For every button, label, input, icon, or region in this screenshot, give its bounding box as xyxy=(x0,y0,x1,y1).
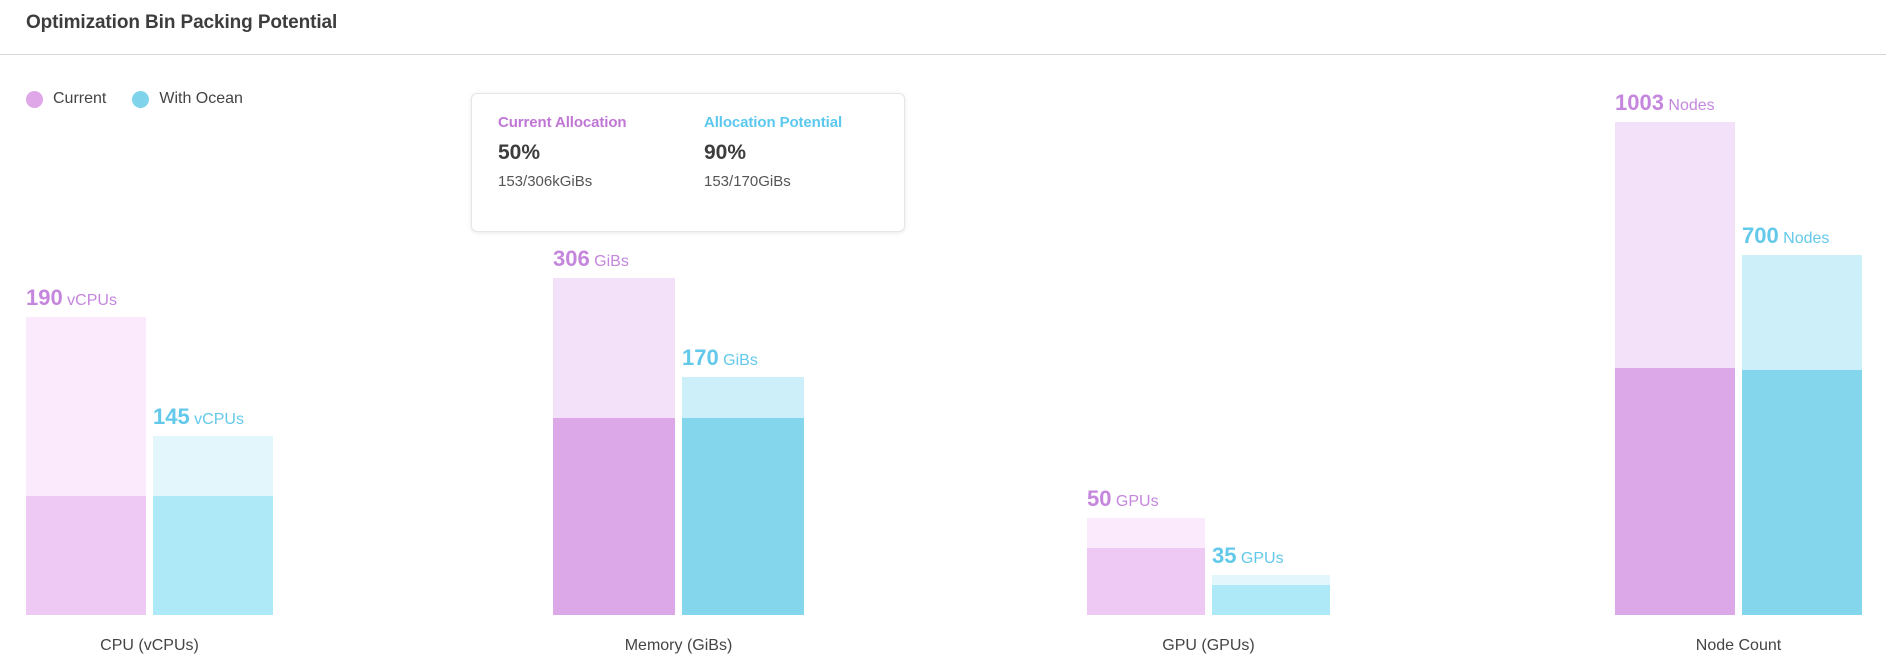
bar-current[interactable] xyxy=(553,278,675,615)
bar-value-unit: GiBs xyxy=(590,253,629,270)
bar-unused-segment xyxy=(26,317,146,496)
bar-chart-plot: 190 vCPUs145 vCPUsCPU (vCPUs)306 GiBs170… xyxy=(0,0,1886,666)
bar-value-unit: GPUs xyxy=(1236,550,1283,567)
bar-current[interactable] xyxy=(1087,518,1205,615)
bar-group: 190 vCPUs145 vCPUsCPU (vCPUs) xyxy=(26,51,273,615)
bar-with-ocean[interactable] xyxy=(1212,575,1330,615)
bar-unused-segment xyxy=(553,278,675,418)
bar-unused-segment xyxy=(1087,518,1205,548)
bar-unused-segment xyxy=(153,436,273,496)
bar-allocated-segment xyxy=(1212,585,1330,615)
bar-value-unit: vCPUs xyxy=(190,411,244,428)
bar-allocated-segment xyxy=(1615,368,1735,615)
bar-value-number: 306 xyxy=(553,246,590,271)
bar-allocated-segment xyxy=(26,496,146,615)
bar-value-unit: Nodes xyxy=(1779,230,1830,247)
bar-with-ocean[interactable] xyxy=(153,436,273,615)
bar-value-label: 145 vCPUs xyxy=(153,404,353,430)
bar-value-number: 1003 xyxy=(1615,90,1664,115)
bar-value-label: 35 GPUs xyxy=(1212,543,1412,569)
bar-unused-segment xyxy=(1742,255,1862,370)
x-axis-category-label: CPU (vCPUs) xyxy=(26,637,273,655)
bar-current[interactable] xyxy=(1615,122,1735,615)
bar-unused-segment xyxy=(1212,575,1330,585)
bar-value-label: 700 Nodes xyxy=(1742,223,1886,249)
bar-value-number: 50 xyxy=(1087,486,1111,511)
x-axis-category-label: GPU (GPUs) xyxy=(1087,637,1330,655)
bar-value-unit: GiBs xyxy=(719,352,758,369)
chart-page: Optimization Bin Packing Potential Curre… xyxy=(0,0,1886,666)
bar-unused-segment xyxy=(1615,122,1735,368)
bar-unused-segment xyxy=(682,377,804,418)
bar-with-ocean[interactable] xyxy=(1742,255,1862,615)
bar-value-number: 700 xyxy=(1742,223,1779,248)
bar-value-unit: vCPUs xyxy=(63,292,117,309)
bar-value-number: 35 xyxy=(1212,543,1236,568)
bar-value-unit: Nodes xyxy=(1664,97,1715,114)
bar-value-unit: GPUs xyxy=(1111,493,1158,510)
bar-value-number: 190 xyxy=(26,285,63,310)
bar-allocated-segment xyxy=(153,496,273,615)
bar-group: 306 GiBs170 GiBsMemory (GiBs) xyxy=(553,51,804,615)
bar-value-label: 306 GiBs xyxy=(553,246,753,272)
bar-value-label: 1003 Nodes xyxy=(1615,90,1815,116)
x-axis-category-label: Node Count xyxy=(1615,637,1862,655)
bar-value-number: 145 xyxy=(153,404,190,429)
x-axis-category-label: Memory (GiBs) xyxy=(553,637,804,655)
bar-allocated-segment xyxy=(1087,548,1205,615)
bar-group: 50 GPUs35 GPUsGPU (GPUs) xyxy=(1087,51,1330,615)
bar-allocated-segment xyxy=(553,418,675,615)
bar-allocated-segment xyxy=(1742,370,1862,615)
bar-allocated-segment xyxy=(682,418,804,615)
bar-with-ocean[interactable] xyxy=(682,377,804,615)
bar-group: 1003 Nodes700 NodesNode Count xyxy=(1615,51,1862,615)
bar-value-number: 170 xyxy=(682,345,719,370)
bar-value-label: 50 GPUs xyxy=(1087,486,1287,512)
bar-value-label: 190 vCPUs xyxy=(26,285,226,311)
bar-value-label: 170 GiBs xyxy=(682,345,882,371)
bar-current[interactable] xyxy=(26,317,146,615)
